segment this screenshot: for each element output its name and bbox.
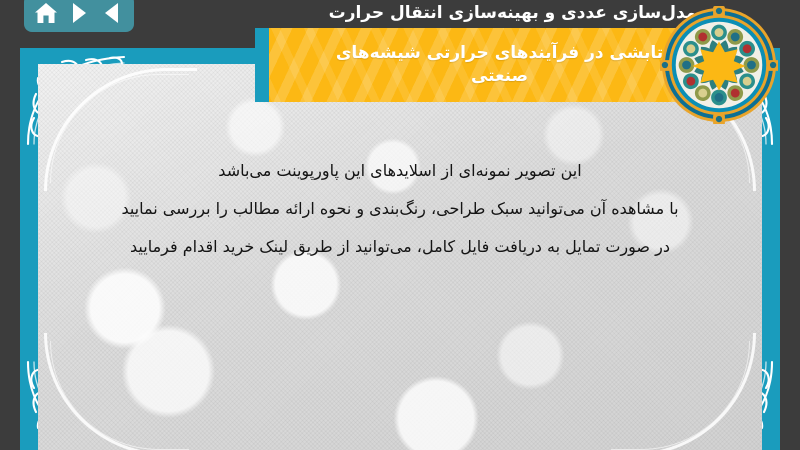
triangle-right-icon: [73, 3, 86, 23]
banner-accent-tab: [255, 28, 269, 102]
slide-body: این تصویر نمونه‌ای از اسلایدهای این پاور…: [78, 152, 722, 266]
home-icon: [34, 2, 58, 24]
back-button[interactable]: [99, 0, 125, 26]
body-line-1: این تصویر نمونه‌ای از اسلایدهای این پاور…: [78, 152, 722, 190]
slide-title-line-3: صنعتی: [315, 65, 684, 88]
body-line-3: در صورت تمایل به دریافت فایل کامل، می‌تو…: [78, 228, 722, 266]
slide-title-lines-2-3: تابشی در فرآیندهای حرارتی شیشه‌های صنعتی: [255, 42, 710, 88]
title-banner: تابشی در فرآیندهای حرارتی شیشه‌های صنعتی: [255, 28, 710, 102]
slide-viewer: این تصویر نمونه‌ای از اسلایدهای این پاور…: [0, 0, 800, 450]
decorative-curve-bottom-left: [44, 333, 197, 450]
slide-title-line-1: مدل‌سازی عددی و بهینه‌سازی انتقال حرارت: [255, 2, 710, 25]
decorative-curve-thin-bottom-right: [611, 341, 750, 450]
home-button[interactable]: [33, 0, 59, 26]
decorative-curve-thin-bottom-left: [50, 341, 189, 450]
body-line-2: با مشاهده آن می‌توانید سبک طراحی، رنگ‌بن…: [78, 190, 722, 228]
slide-canvas: این تصویر نمونه‌ای از اسلایدهای این پاور…: [38, 64, 762, 450]
decorative-curve-bottom-right: [603, 333, 756, 450]
navigation-toolbar: [24, 0, 134, 32]
triangle-left-icon: [105, 3, 118, 23]
persian-medallion-ornament-icon: [660, 6, 778, 124]
slide-title-line-2: تابشی در فرآیندهای حرارتی شیشه‌های: [315, 42, 684, 65]
forward-button[interactable]: [66, 0, 92, 26]
